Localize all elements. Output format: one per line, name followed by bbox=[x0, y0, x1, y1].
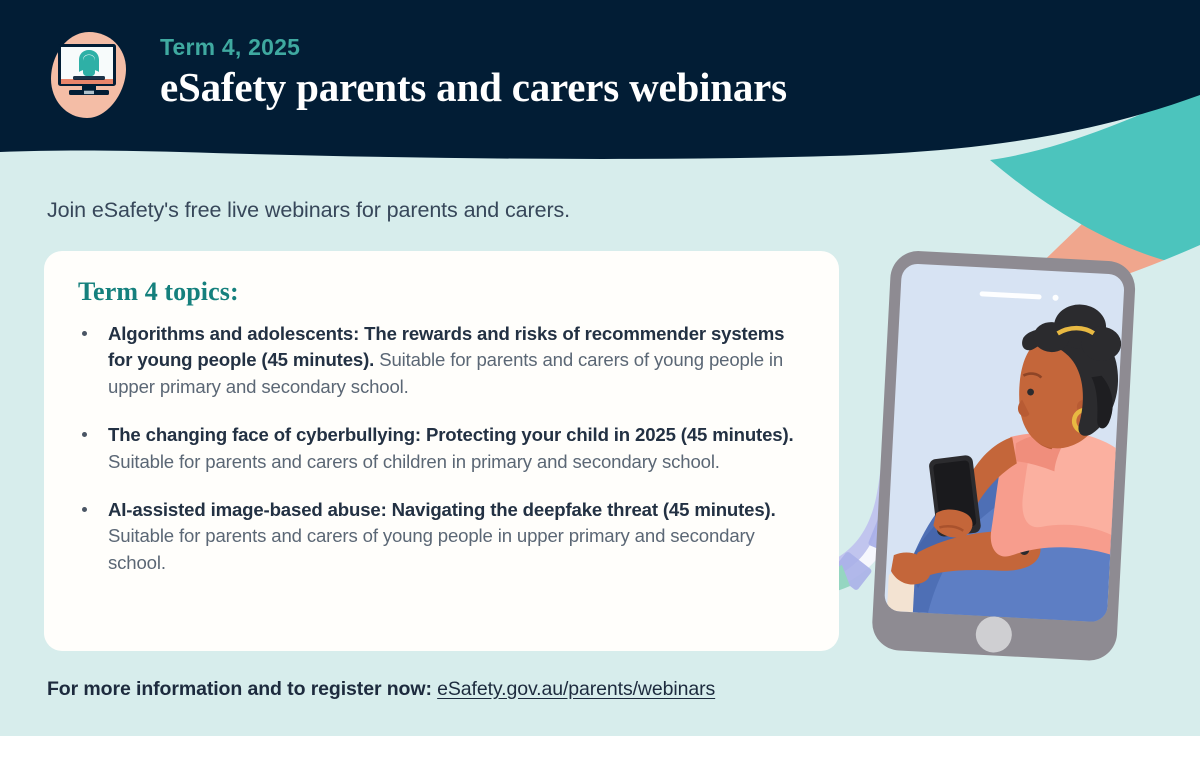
topic-description: Suitable for parents and carers of young… bbox=[108, 525, 755, 572]
list-item: The changing face of cyberbullying: Prot… bbox=[74, 422, 805, 475]
intro-text: Join eSafety's free live webinars for pa… bbox=[47, 198, 570, 223]
bullet-icon bbox=[82, 331, 87, 336]
topic-list: Algorithms and adolescents: The rewards … bbox=[74, 321, 805, 576]
list-item: Algorithms and adolescents: The rewards … bbox=[74, 321, 805, 400]
bullet-icon bbox=[82, 432, 87, 437]
card-heading: Term 4 topics: bbox=[78, 277, 805, 307]
page-title: eSafety parents and carers webinars bbox=[160, 65, 787, 111]
poster-root: Term 4, 2025 eSafety parents and carers … bbox=[0, 0, 1200, 759]
footer: For more information and to register now… bbox=[47, 678, 715, 701]
header: Term 4, 2025 eSafety parents and carers … bbox=[0, 0, 1200, 175]
webinar-monitor-icon bbox=[40, 26, 138, 124]
bottom-white-strip bbox=[0, 736, 1200, 759]
topics-card: Term 4 topics: Algorithms and adolescent… bbox=[44, 251, 839, 651]
registration-link[interactable]: eSafety.gov.au/parents/webinars bbox=[437, 678, 715, 700]
list-item: AI-assisted image-based abuse: Navigatin… bbox=[74, 497, 805, 576]
bullet-icon bbox=[82, 507, 87, 512]
topic-title: The changing face of cyberbullying: Prot… bbox=[108, 424, 794, 445]
term-label: Term 4, 2025 bbox=[160, 35, 787, 60]
topic-title: AI-assisted image-based abuse: Navigatin… bbox=[108, 499, 776, 520]
footer-prefix: For more information and to register now… bbox=[47, 678, 437, 700]
esafety-logo bbox=[40, 26, 138, 124]
topic-description: Suitable for parents and carers of child… bbox=[108, 451, 720, 472]
